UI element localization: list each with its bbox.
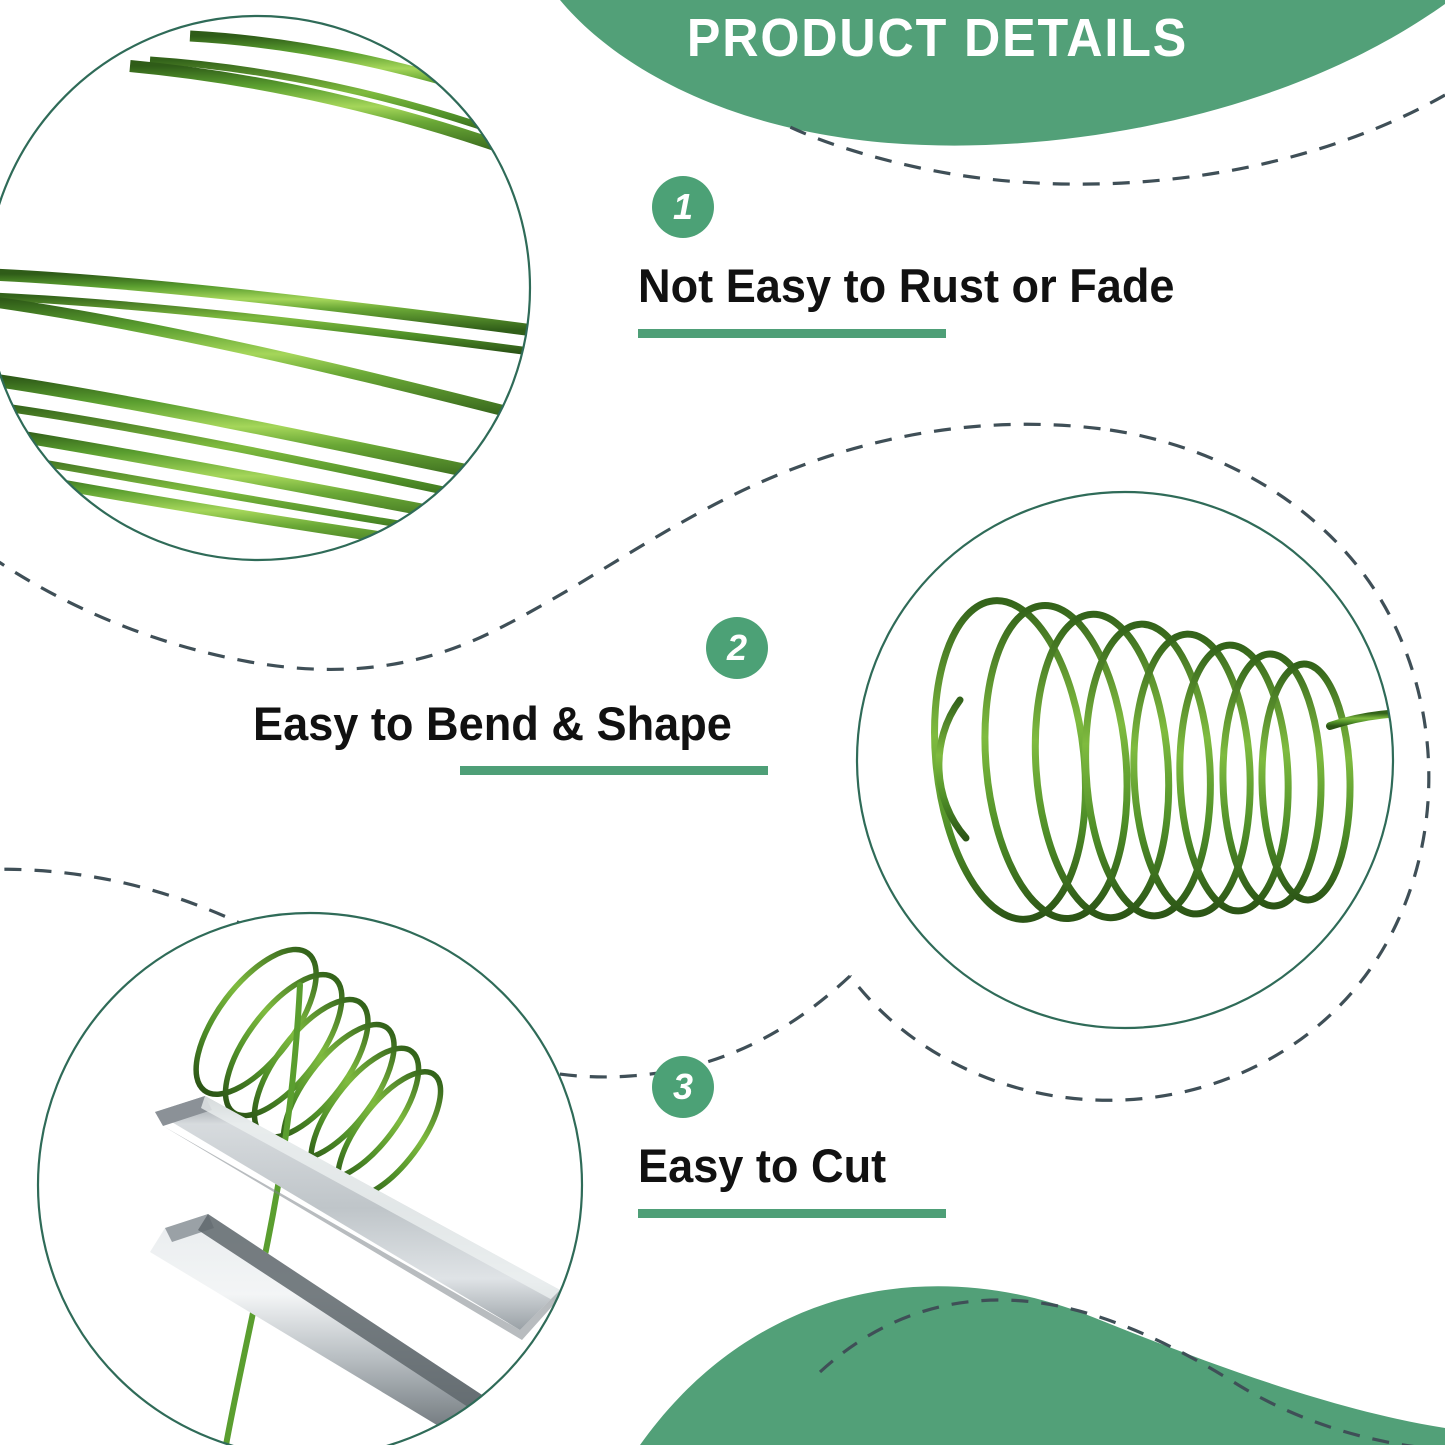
feature-3-underline — [638, 1209, 946, 1218]
feature-2-badge: 2 — [706, 617, 768, 679]
product-details-infographic: PRODUCT DETAILS 1 Not Easy to Rust or Fa… — [0, 0, 1445, 1445]
feature-1-underline — [638, 329, 946, 338]
feature-3-badge: 3 — [652, 1056, 714, 1118]
content-layer: PRODUCT DETAILS 1 Not Easy to Rust or Fa… — [0, 0, 1445, 1445]
page-title: PRODUCT DETAILS — [612, 7, 1263, 69]
feature-3-title: Easy to Cut — [638, 1138, 886, 1194]
feature-1-badge: 1 — [652, 176, 714, 238]
feature-2-underline — [460, 766, 768, 775]
feature-2-title: Easy to Bend & Shape — [253, 696, 732, 752]
feature-1-title: Not Easy to Rust or Fade — [638, 258, 1175, 314]
